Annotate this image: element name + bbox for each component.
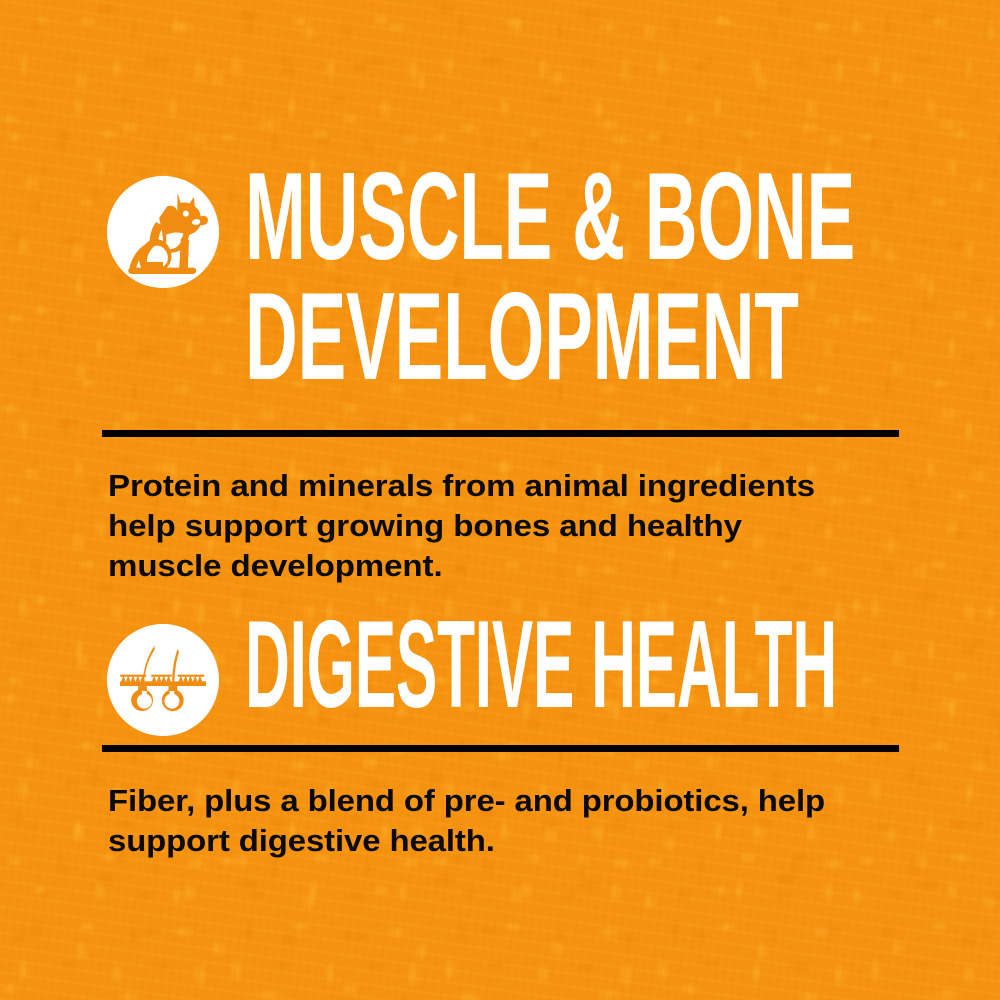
section-muscle-bone-divider bbox=[102, 430, 899, 437]
section-muscle-bone-body: Protein and minerals from animal ingredi… bbox=[108, 466, 815, 586]
section-digestive-health-header: DIGESTIVE HEALTH bbox=[107, 624, 1000, 736]
section-muscle-bone-heading: MUSCLE & BONE DEVELOPMENT bbox=[245, 158, 855, 397]
section-muscle-bone-header: MUSCLE & BONE DEVELOPMENT bbox=[107, 176, 1000, 397]
poster-content: MUSCLE & BONE DEVELOPMENT Protein and mi… bbox=[0, 0, 1000, 1000]
heading-line-2: DEVELOPMENT bbox=[245, 278, 855, 398]
heading-line-1: DIGESTIVE HEALTH bbox=[245, 606, 837, 726]
section-digestive-health-body: Fiber, plus a blend of pre- and probioti… bbox=[108, 781, 825, 861]
sitting-dog-icon bbox=[107, 176, 219, 288]
heading-line-1: MUSCLE & BONE bbox=[245, 158, 855, 278]
section-digestive-health-divider bbox=[102, 745, 899, 752]
section-digestive-health-heading: DIGESTIVE HEALTH bbox=[245, 606, 837, 726]
benefits-infographic-poster: MUSCLE & BONE DEVELOPMENT Protein and mi… bbox=[0, 0, 1000, 1000]
intestinal-villi-icon bbox=[107, 624, 219, 736]
